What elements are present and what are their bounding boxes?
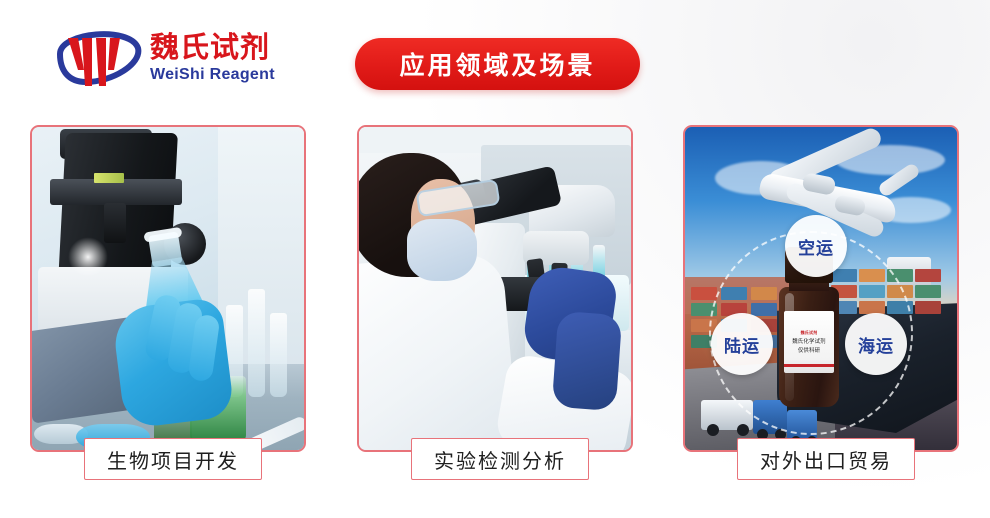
logo-chinese-name: 魏氏试剂 <box>150 33 275 62</box>
card-experiment-testing-analysis[interactable] <box>357 125 633 452</box>
shipping-bubble-land-label: 陆运 <box>724 332 760 357</box>
card-foreign-export-trade[interactable]: 魏氏试剂 魏氏化学试剂 仅供科研 空运 陆运 海运 <box>683 125 959 452</box>
shipping-bubble-land: 陆运 <box>711 313 773 375</box>
caption-text-3: 对外出口贸易 <box>760 445 892 474</box>
card-image-experiment-testing-analysis <box>359 127 631 450</box>
card-image-foreign-export-trade: 魏氏试剂 魏氏化学试剂 仅供科研 空运 陆运 海运 <box>685 127 957 450</box>
caption-text-1: 生物项目开发 <box>107 445 239 474</box>
logo-mark-icon <box>52 24 144 92</box>
card-image-bio-project-development <box>32 127 304 450</box>
caption-text-2: 实验检测分析 <box>434 445 566 474</box>
caption-experiment-testing-analysis: 实验检测分析 <box>411 438 589 480</box>
header: 魏氏试剂 WeiShi Reagent 应用领域及场景 <box>0 0 990 120</box>
shipping-bubble-air: 空运 <box>785 215 847 277</box>
bottle-label-brand: 魏氏试剂 <box>801 330 818 336</box>
title-banner: 应用领域及场景 <box>355 38 640 90</box>
title-banner-text: 应用领域及场景 <box>399 46 595 82</box>
bottle-label-line1: 魏氏化学试剂 <box>792 337 826 345</box>
logo-text: 魏氏试剂 WeiShi Reagent <box>150 33 275 83</box>
brand-logo[interactable]: 魏氏试剂 WeiShi Reagent <box>52 22 322 94</box>
shipping-bubble-air-label: 空运 <box>798 234 834 259</box>
poster-stage: 魏氏试剂 WeiShi Reagent 应用领域及场景 <box>0 0 990 513</box>
shipping-bubble-sea-label: 海运 <box>858 332 894 357</box>
card-bio-project-development[interactable] <box>30 125 306 452</box>
bottle-label: 魏氏试剂 魏氏化学试剂 仅供科研 <box>784 311 834 373</box>
caption-foreign-export-trade: 对外出口贸易 <box>737 438 915 480</box>
logo-w-swoosh-icon <box>52 24 144 92</box>
bottle-label-line2: 仅供科研 <box>798 346 820 354</box>
caption-bio-project-development: 生物项目开发 <box>84 438 262 480</box>
shipping-bubble-sea: 海运 <box>845 313 907 375</box>
logo-english-name: WeiShi Reagent <box>150 67 275 83</box>
